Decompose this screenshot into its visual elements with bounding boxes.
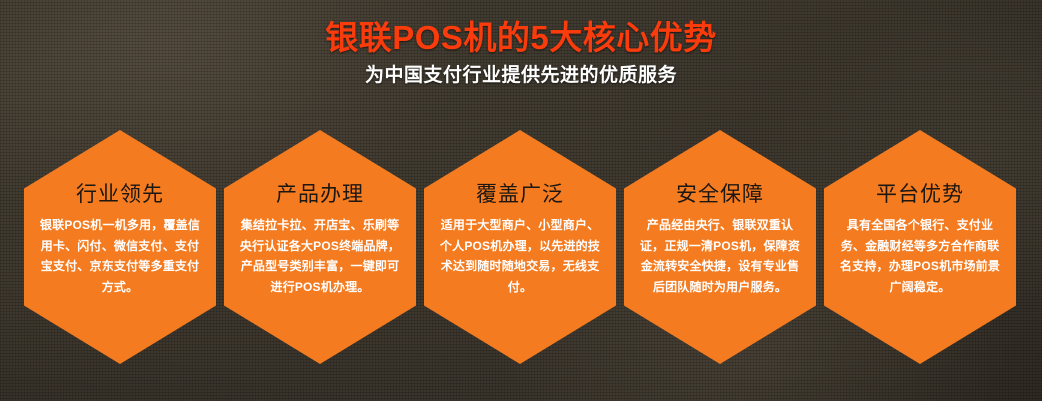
feature-content-1: 行业领先 银联POS机一机多用，覆盖信用卡、闪付、微信支付、支付宝支付、京东支付… xyxy=(30,182,210,297)
feature-body-3: 适用于大型商户、小型商户、个人POS机办理，以先进的技术达到随时随地交易，无线支… xyxy=(430,215,610,297)
feature-hexagon-row: 行业领先 银联POS机一机多用，覆盖信用卡、闪付、微信支付、支付宝支付、京东支付… xyxy=(24,130,1020,364)
feature-hexagon-2[interactable]: 产品办理 集结拉卡拉、开店宝、乐刷等央行认证各大POS终端品牌，产品型号类别丰富… xyxy=(224,130,416,364)
feature-title-4: 安全保障 xyxy=(630,182,810,208)
page-subtitle: 为中国支付行业提供先进的优质服务 xyxy=(0,63,1042,89)
feature-title-5: 平台优势 xyxy=(830,182,1010,208)
heading-block: 银联POS机的5大核心优势 为中国支付行业提供先进的优质服务 xyxy=(0,18,1042,89)
feature-body-1: 银联POS机一机多用，覆盖信用卡、闪付、微信支付、支付宝支付、京东支付等多重支付… xyxy=(30,215,210,297)
feature-hexagon-1[interactable]: 行业领先 银联POS机一机多用，覆盖信用卡、闪付、微信支付、支付宝支付、京东支付… xyxy=(24,130,216,364)
feature-content-2: 产品办理 集结拉卡拉、开店宝、乐刷等央行认证各大POS终端品牌，产品型号类别丰富… xyxy=(230,182,410,297)
promo-banner: 银联POS机的5大核心优势 为中国支付行业提供先进的优质服务 行业领先 银联PO… xyxy=(0,0,1042,401)
page-title: 银联POS机的5大核心优势 xyxy=(0,18,1042,58)
feature-body-2: 集结拉卡拉、开店宝、乐刷等央行认证各大POS终端品牌，产品型号类别丰富，一键即可… xyxy=(230,215,410,297)
feature-content-5: 平台优势 具有全国各个银行、支付业务、金融财经等多方合作商联名支持，办理POS机… xyxy=(830,182,1010,297)
feature-body-4: 产品经由央行、银联双重认证，正规一清POS机，保障资金流转安全快捷，设有专业售后… xyxy=(630,215,810,297)
feature-hexagon-5[interactable]: 平台优势 具有全国各个银行、支付业务、金融财经等多方合作商联名支持，办理POS机… xyxy=(824,130,1016,364)
feature-content-4: 安全保障 产品经由央行、银联双重认证，正规一清POS机，保障资金流转安全快捷，设… xyxy=(630,182,810,297)
feature-content-3: 覆盖广泛 适用于大型商户、小型商户、个人POS机办理，以先进的技术达到随时随地交… xyxy=(430,182,610,297)
feature-title-2: 产品办理 xyxy=(230,182,410,208)
feature-title-3: 覆盖广泛 xyxy=(430,182,610,208)
feature-hexagon-4[interactable]: 安全保障 产品经由央行、银联双重认证，正规一清POS机，保障资金流转安全快捷，设… xyxy=(624,130,816,364)
feature-title-1: 行业领先 xyxy=(30,182,210,208)
feature-hexagon-3[interactable]: 覆盖广泛 适用于大型商户、小型商户、个人POS机办理，以先进的技术达到随时随地交… xyxy=(424,130,616,364)
feature-body-5: 具有全国各个银行、支付业务、金融财经等多方合作商联名支持，办理POS机市场前景广… xyxy=(830,215,1010,297)
